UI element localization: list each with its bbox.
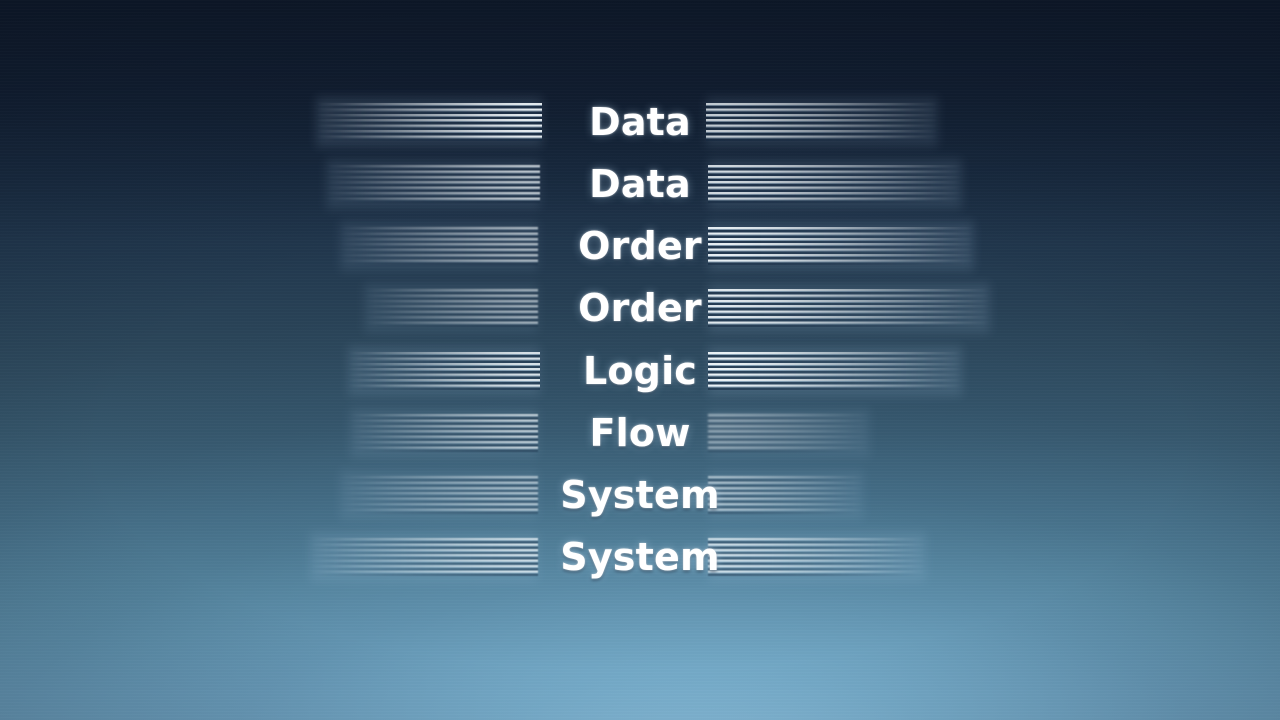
stripe-bloom [326, 159, 540, 209]
stripe-lines [708, 289, 990, 327]
word-row: Flow [0, 402, 1280, 464]
left-stripe-bar [340, 227, 538, 265]
right-stripe-bar [708, 414, 870, 452]
word-row: Order [0, 277, 1280, 339]
stripe-bloom [350, 408, 538, 458]
stripe-lines [708, 476, 864, 514]
left-stripe-bar [348, 352, 540, 390]
left-stripe-bar [310, 538, 538, 576]
stripe-lines [316, 103, 542, 141]
right-stripe-bar [708, 289, 990, 327]
stripe-lines [364, 289, 538, 327]
stripe-bloom [708, 159, 962, 209]
stripe-bloom [708, 532, 926, 582]
stripe-bloom [706, 97, 938, 147]
title-sequence-frame: DataDataOrderOrderLogicFlowSystemSystem [0, 0, 1280, 720]
stripe-lines [310, 538, 538, 576]
stripe-bloom [708, 221, 974, 271]
stripe-bloom [310, 532, 538, 582]
stripe-bloom [708, 283, 990, 333]
stripe-bloom [364, 283, 538, 333]
stripe-bloom [340, 470, 538, 520]
stripe-lines [340, 476, 538, 514]
stripe-lines [340, 227, 538, 265]
stripe-lines [708, 227, 974, 265]
stripe-bloom [316, 97, 542, 147]
word-row: System [0, 464, 1280, 526]
right-stripe-bar [706, 103, 938, 141]
word-row: System [0, 526, 1280, 588]
row-word: System [560, 538, 720, 576]
word-row: Data [0, 91, 1280, 153]
stripe-lines [350, 414, 538, 452]
left-stripe-bar [316, 103, 542, 141]
word-row: Order [0, 215, 1280, 277]
stripe-bloom [340, 221, 538, 271]
right-stripe-bar [708, 165, 962, 203]
left-stripe-bar [364, 289, 538, 327]
stripe-lines [708, 538, 926, 576]
row-word: Flow [590, 414, 691, 452]
stripe-bloom [708, 470, 864, 520]
word-row: Logic [0, 340, 1280, 402]
stripe-lines [348, 352, 540, 390]
word-row-list: DataDataOrderOrderLogicFlowSystemSystem [0, 0, 1280, 720]
stripe-lines [708, 352, 962, 390]
stripe-lines [708, 414, 870, 452]
word-row: Data [0, 153, 1280, 215]
left-stripe-bar [350, 414, 538, 452]
row-word: Data [589, 103, 691, 141]
right-stripe-bar [708, 476, 864, 514]
right-stripe-bar [708, 538, 926, 576]
stripe-lines [706, 103, 938, 141]
row-word: Order [578, 289, 702, 327]
row-word: Data [589, 165, 691, 203]
stripe-lines [326, 165, 540, 203]
left-stripe-bar [326, 165, 540, 203]
row-word: Logic [583, 352, 697, 390]
right-stripe-bar [708, 352, 962, 390]
row-word: Order [578, 227, 702, 265]
stripe-bloom [708, 346, 962, 396]
right-stripe-bar [708, 227, 974, 265]
stripe-bloom [348, 346, 540, 396]
stripe-lines [708, 165, 962, 203]
row-word: System [560, 476, 720, 514]
left-stripe-bar [340, 476, 538, 514]
stripe-bloom [708, 408, 870, 458]
